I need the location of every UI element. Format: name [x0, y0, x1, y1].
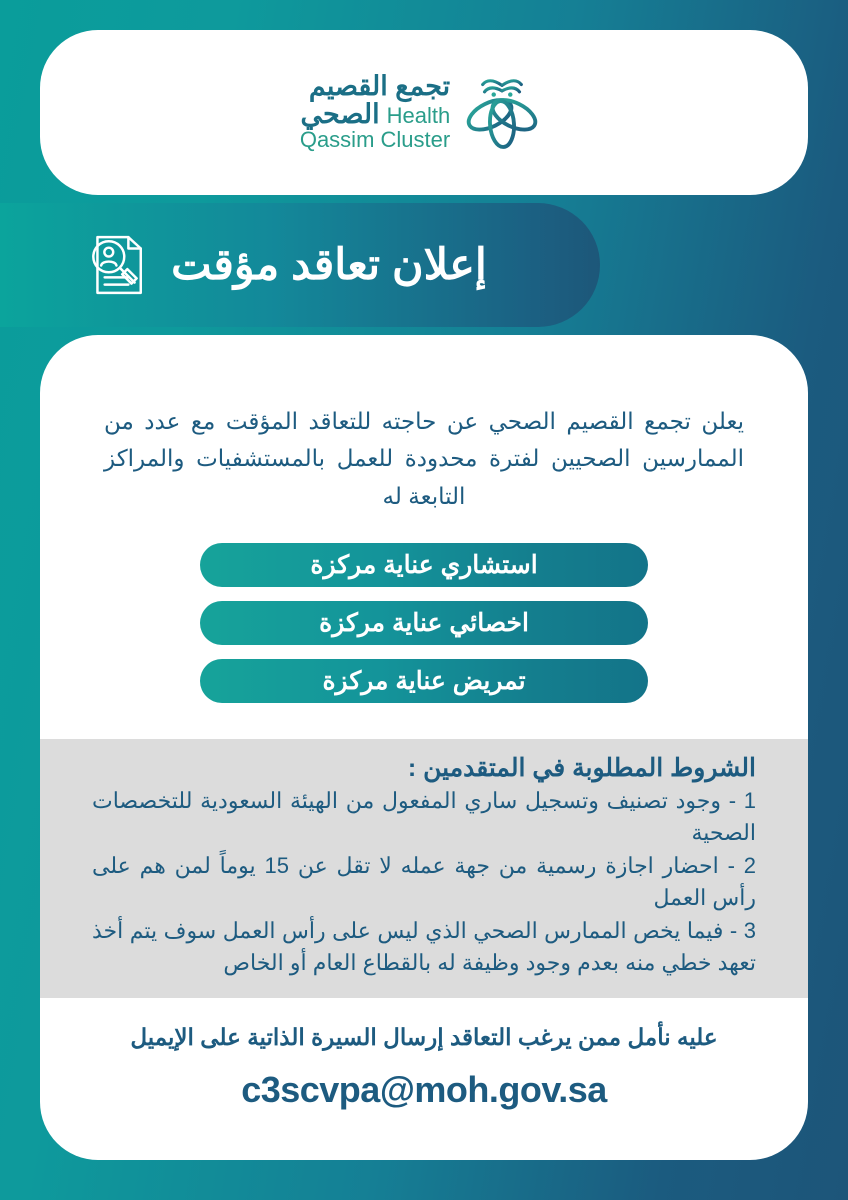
logo-lockup: تجمع القصيم Health الصحي Qassim Cluster: [300, 67, 548, 159]
logo-english-cluster: Qassim Cluster: [300, 129, 450, 151]
footer-note: عليه نأمل ممن يرغب التعاقد إرسال السيرة …: [80, 1024, 768, 1051]
conditions-heading: الشروط المطلوبة في المتقدمين :: [92, 753, 756, 783]
position-pill: تمريض عناية مركزة: [200, 659, 648, 703]
logo-arabic-line1: تجمع القصيم: [309, 73, 450, 101]
intro-paragraph: يعلن تجمع القصيم الصحي عن حاجته للتعاقد …: [40, 335, 808, 515]
logo-english-health: Health: [387, 105, 451, 127]
logo-arabic-line2: الصحي: [301, 101, 380, 129]
position-label: استشاري عناية مركزة: [310, 550, 537, 580]
logo-arabic-line2-row: Health الصحي: [301, 101, 451, 129]
logo-text-block: تجمع القصيم Health الصحي Qassim Cluster: [300, 73, 450, 152]
position-pill: اخصائي عناية مركزة: [200, 601, 648, 645]
positions-list: استشاري عناية مركزة اخصائي عناية مركزة ت…: [40, 515, 808, 703]
condition-item: 1 - وجود تصنيف وتسجيل ساري المفعول من ال…: [92, 785, 756, 850]
contact-email[interactable]: c3scvpa@moh.gov.sa: [80, 1069, 768, 1111]
position-label: تمريض عناية مركزة: [322, 666, 525, 696]
condition-item: 2 - احضار اجازة رسمية من جهة عمله لا تقل…: [92, 850, 756, 915]
main-content-card: يعلن تجمع القصيم الصحي عن حاجته للتعاقد …: [40, 335, 808, 1160]
condition-item: 3 - فيما يخص الممارس الصحي الذي ليس على …: [92, 915, 756, 980]
moh-qassim-cluster-logo-icon: [456, 67, 548, 159]
poster-root: تجمع القصيم Health الصحي Qassim Cluster: [0, 0, 848, 1200]
page-title: إعلان تعاقد مؤقت: [171, 240, 487, 290]
logo-card: تجمع القصيم Health الصحي Qassim Cluster: [40, 30, 808, 195]
document-search-person-icon: [83, 232, 149, 298]
position-label: اخصائي عناية مركزة: [319, 608, 529, 638]
position-pill: استشاري عناية مركزة: [200, 543, 648, 587]
footer-section: عليه نأمل ممن يرغب التعاقد إرسال السيرة …: [40, 998, 808, 1111]
title-banner: إعلان تعاقد مؤقت: [0, 203, 600, 327]
conditions-panel: الشروط المطلوبة في المتقدمين : 1 - وجود …: [40, 739, 808, 998]
